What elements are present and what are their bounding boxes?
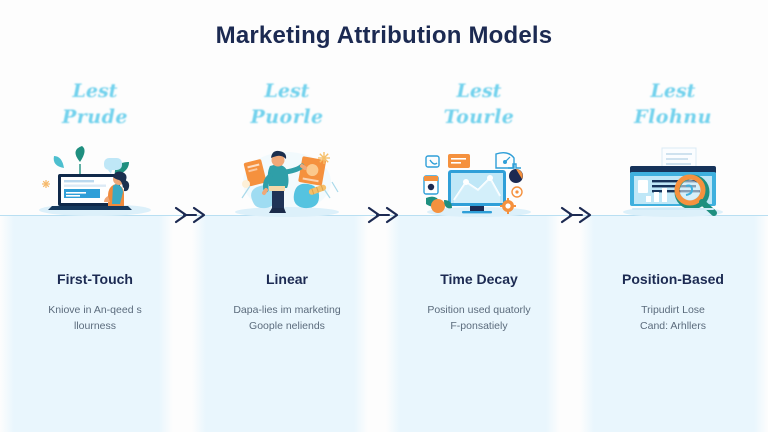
script-line-2: Flohnu <box>578 104 768 130</box>
desc-line-1: Dapa-lies im marketing <box>198 302 376 318</box>
model-title-1: First-Touch <box>0 271 190 287</box>
script-line-1: Lest <box>73 80 118 102</box>
model-column-time-decay[interactable]: Lest Tourle <box>384 0 574 432</box>
illustration-document-dashboard-magnifier <box>598 146 748 218</box>
script-heading-2: Lest Puorle <box>192 78 382 130</box>
script-heading-1: Lest Prude <box>0 78 190 130</box>
script-line-1: Lest <box>265 80 310 102</box>
script-heading-4: Lest Flohnu <box>578 78 768 130</box>
model-title-4: Position-Based <box>578 271 768 287</box>
desc-line-2: Cand: Arhllers <box>584 318 762 334</box>
desc-line-1: Tripudirt Lose <box>584 302 762 318</box>
desc-line-1: Kniove in An-qeed s <box>6 302 184 318</box>
model-column-first-touch[interactable]: Lest Prude <box>0 0 190 432</box>
script-heading-3: Lest Tourle <box>384 78 574 130</box>
script-line-1: Lest <box>651 80 696 102</box>
desc-line-1: Position used quatorly <box>390 302 568 318</box>
desc-line-2: F-ponsatiely <box>390 318 568 334</box>
illustration-person-at-laptop-with-plants <box>20 146 170 218</box>
script-line-1: Lest <box>457 80 502 102</box>
script-line-2: Puorle <box>192 104 382 130</box>
model-description-2: Dapa-lies im marketing Goople neliends <box>198 302 376 334</box>
desc-line-2: llourness <box>6 318 184 334</box>
script-line-2: Prude <box>0 104 190 130</box>
model-column-linear[interactable]: Lest Puorle <box>192 0 382 432</box>
model-description-4: Tripudirt Lose Cand: Arhllers <box>584 302 762 334</box>
model-column-position-based[interactable]: Lest Flohnu <box>578 0 768 432</box>
model-title-3: Time Decay <box>384 271 574 287</box>
model-description-3: Position used quatorly F-ponsatiely <box>390 302 568 334</box>
desc-line-2: Goople neliends <box>198 318 376 334</box>
model-title-2: Linear <box>192 271 382 287</box>
illustration-person-holding-cards <box>212 146 362 218</box>
illustration-monitor-line-chart-analytics <box>404 146 554 218</box>
infographic-canvas: Marketing Attribution Models Lest Prude <box>0 0 768 432</box>
script-line-2: Tourle <box>384 104 574 130</box>
model-description-1: Kniove in An-qeed s llourness <box>6 302 184 334</box>
